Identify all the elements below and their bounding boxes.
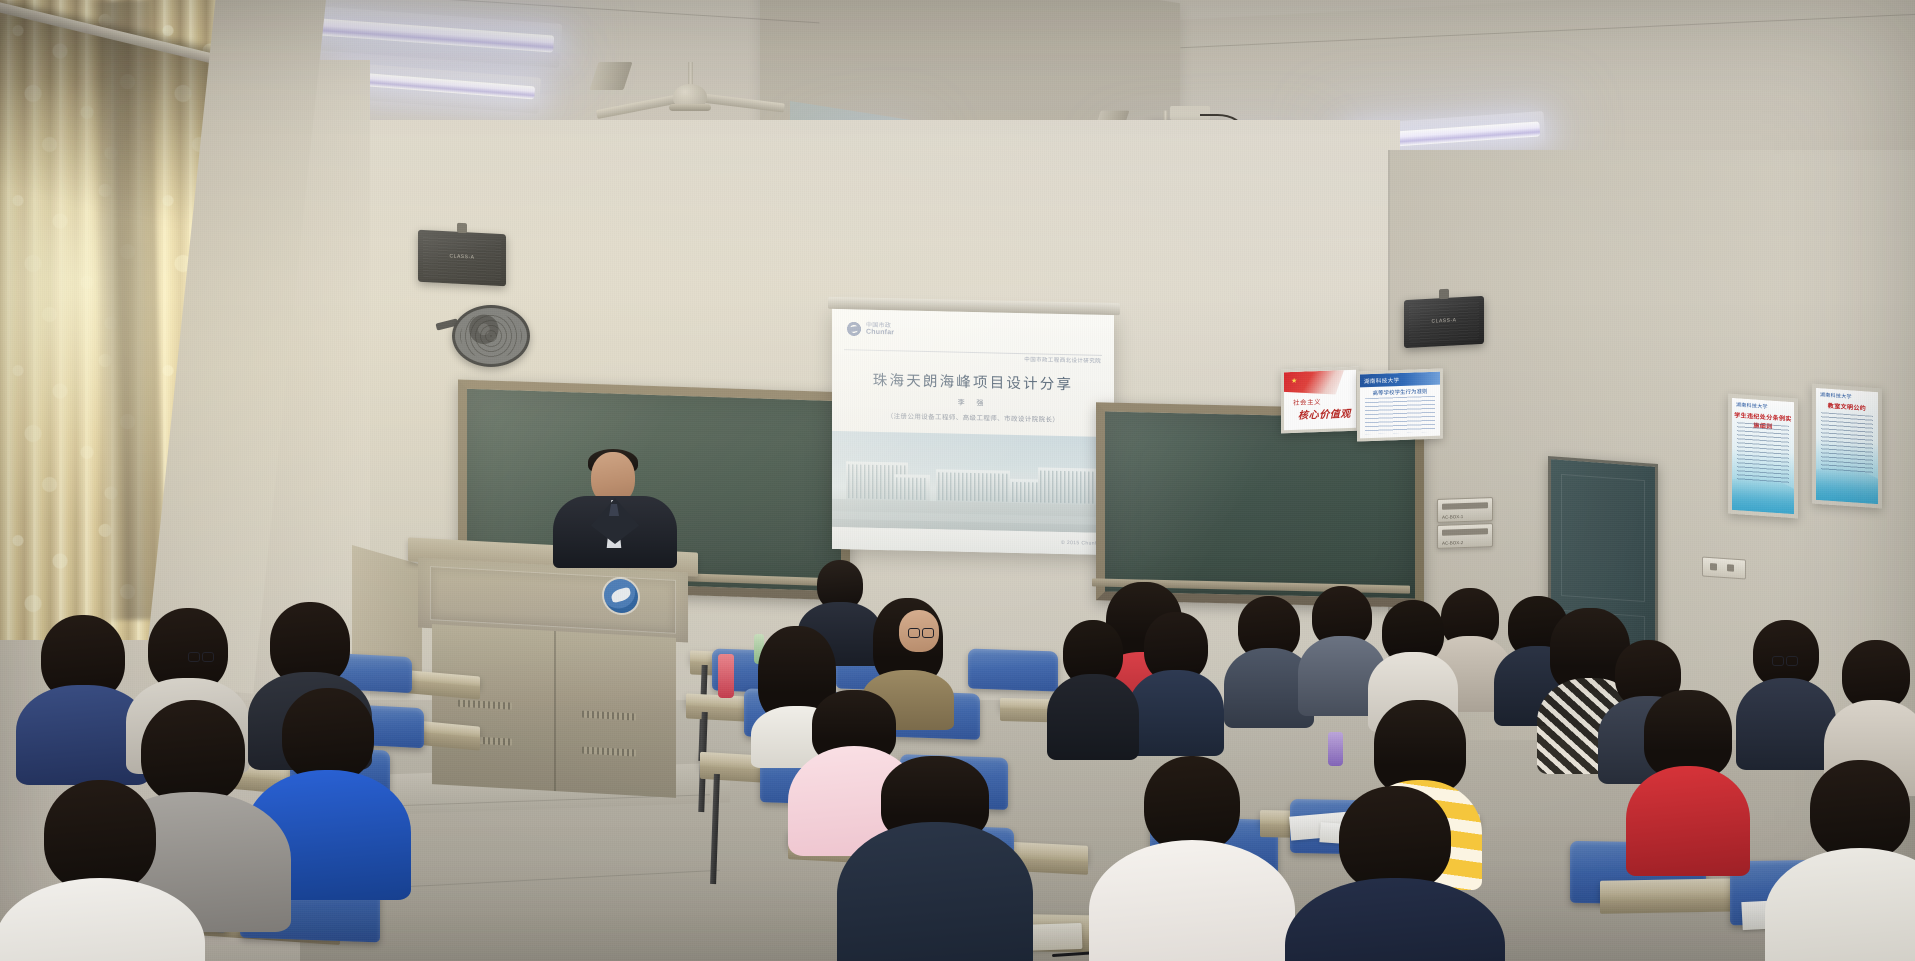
student-dark-hair-center xyxy=(1130,612,1222,742)
student-jacket xyxy=(837,822,1033,961)
slide-credentials: （注册公用设备工程师、高级工程师、市政设计院院长） xyxy=(832,409,1114,425)
student-hair xyxy=(1644,690,1732,778)
poster-student-code: 湖南科技大学 高等学校学生行为准则 xyxy=(1357,368,1443,441)
poster-discipline-rules: 湖南科技大学 学生违纪处分条例实施细则 xyxy=(1728,394,1798,519)
student-white-shirt-foreground xyxy=(0,780,200,961)
student-head xyxy=(282,688,374,782)
poster-socialist-core-values: ★ 社会主义 核心价值观 xyxy=(1281,367,1359,434)
wall-speaker-left: CLASS-A xyxy=(418,230,506,287)
student-head xyxy=(1810,760,1910,860)
glasses-icon xyxy=(188,652,214,660)
fan-blade-down xyxy=(589,62,632,90)
logo-english-name: Chunfar xyxy=(866,329,894,337)
poster-classroom-convention: 湖南科技大学 教室文明公约 xyxy=(1812,384,1882,509)
poster-header-band: 湖南科技大学 xyxy=(1360,372,1440,388)
poster-university-name: 湖南科技大学 xyxy=(1364,376,1399,385)
wall-speaker-right: CLASS-A xyxy=(1404,296,1484,348)
building-right xyxy=(1038,467,1100,506)
cabinet-vent xyxy=(458,700,512,710)
lectern-inset xyxy=(430,566,676,634)
water-bottle-purple-2[interactable] xyxy=(1328,732,1343,766)
student-body xyxy=(1128,670,1224,756)
student-head xyxy=(1144,756,1240,852)
presentation-slide: 中国市政 Chunfar 中国市政工程西北设计研究院 珠海天朗海峰项目设计分享 … xyxy=(832,309,1114,555)
poster-university-name: 湖南科技大学 xyxy=(1736,401,1768,410)
student-far-right-1 xyxy=(1738,620,1834,756)
lectern-cabinet xyxy=(432,624,676,798)
cabinet-door-split xyxy=(554,631,556,791)
student-denim-front xyxy=(840,756,1030,961)
building-left-low xyxy=(894,474,930,503)
student-jacket xyxy=(1285,878,1505,961)
electrical-box-2: AC-BOX-2 xyxy=(1437,523,1493,549)
slide-title: 珠海天朗海峰项目设计分享 xyxy=(832,368,1114,395)
box-label: AC-BOX-2 xyxy=(1442,540,1463,546)
student-head xyxy=(1339,786,1451,892)
cabinet-vent xyxy=(582,711,636,721)
company-logo: 中国市政 Chunfar xyxy=(846,321,894,337)
box-vent-icon xyxy=(1442,528,1488,536)
seat-back-3[interactable] xyxy=(968,648,1058,691)
poster-body-text xyxy=(1365,396,1435,434)
student-white-tee xyxy=(1092,756,1292,961)
poster-university-name: 湖南科技大学 xyxy=(1820,391,1852,400)
slide-author: 李 强 xyxy=(832,395,1114,411)
student-head xyxy=(44,780,156,892)
poster-values-line2: 核心价值观 xyxy=(1298,405,1351,422)
student-shirt xyxy=(1089,840,1295,961)
building-center xyxy=(936,469,1010,505)
water-bottle-red[interactable] xyxy=(718,654,734,698)
electrical-box-1: AC-BOX-1 xyxy=(1437,497,1493,523)
cabinet-vent xyxy=(582,747,636,757)
presenter xyxy=(555,452,675,562)
box-label: AC-BOX-1 xyxy=(1442,514,1463,520)
student-front-right xyxy=(1770,760,1915,960)
student-navy-foreground xyxy=(1290,786,1500,961)
speaker-bracket xyxy=(1439,289,1449,300)
student-far-right-2 xyxy=(1828,640,1915,780)
poster-title: 教室文明公约 xyxy=(1816,400,1878,413)
student-red-jacket xyxy=(1628,690,1748,860)
student-shirt xyxy=(0,878,205,961)
slide-corporate-line: 中国市政工程西北设计研究院 xyxy=(1024,355,1101,365)
box-vent-icon xyxy=(1442,502,1488,510)
flag-star-icon: ★ xyxy=(1291,378,1297,385)
projection-screen: 中国市政 Chunfar 中国市政工程西北设计研究院 珠海天朗海峰项目设计分享 … xyxy=(832,309,1114,555)
poster-body-text xyxy=(1737,422,1789,484)
student-body xyxy=(1047,674,1139,760)
glasses-icon xyxy=(908,628,934,636)
student-body xyxy=(1736,678,1836,770)
classroom-photo: CLASS-A 中国市政 Chunfar 中国市政工程西北设计研究院 珠海天朗海… xyxy=(0,0,1915,961)
wall-mounted-fan xyxy=(452,305,528,367)
fan-cage xyxy=(452,305,530,367)
glasses-icon xyxy=(1772,656,1798,664)
door-panel-upper xyxy=(1561,474,1645,602)
poster-body-text xyxy=(1821,412,1873,474)
lectern xyxy=(418,545,698,800)
student-jacket xyxy=(1626,766,1750,876)
student-shirt xyxy=(1765,848,1915,961)
speaker-brand-label: CLASS-A xyxy=(450,253,475,260)
slide-building-rendering xyxy=(832,431,1114,533)
student-dark-jacket xyxy=(1050,620,1136,746)
wall-outlet xyxy=(1702,556,1746,579)
slide-divider xyxy=(844,349,1102,356)
logo-mark-icon xyxy=(846,321,862,336)
fan-motor xyxy=(669,104,711,111)
speaker-bracket xyxy=(457,223,467,234)
